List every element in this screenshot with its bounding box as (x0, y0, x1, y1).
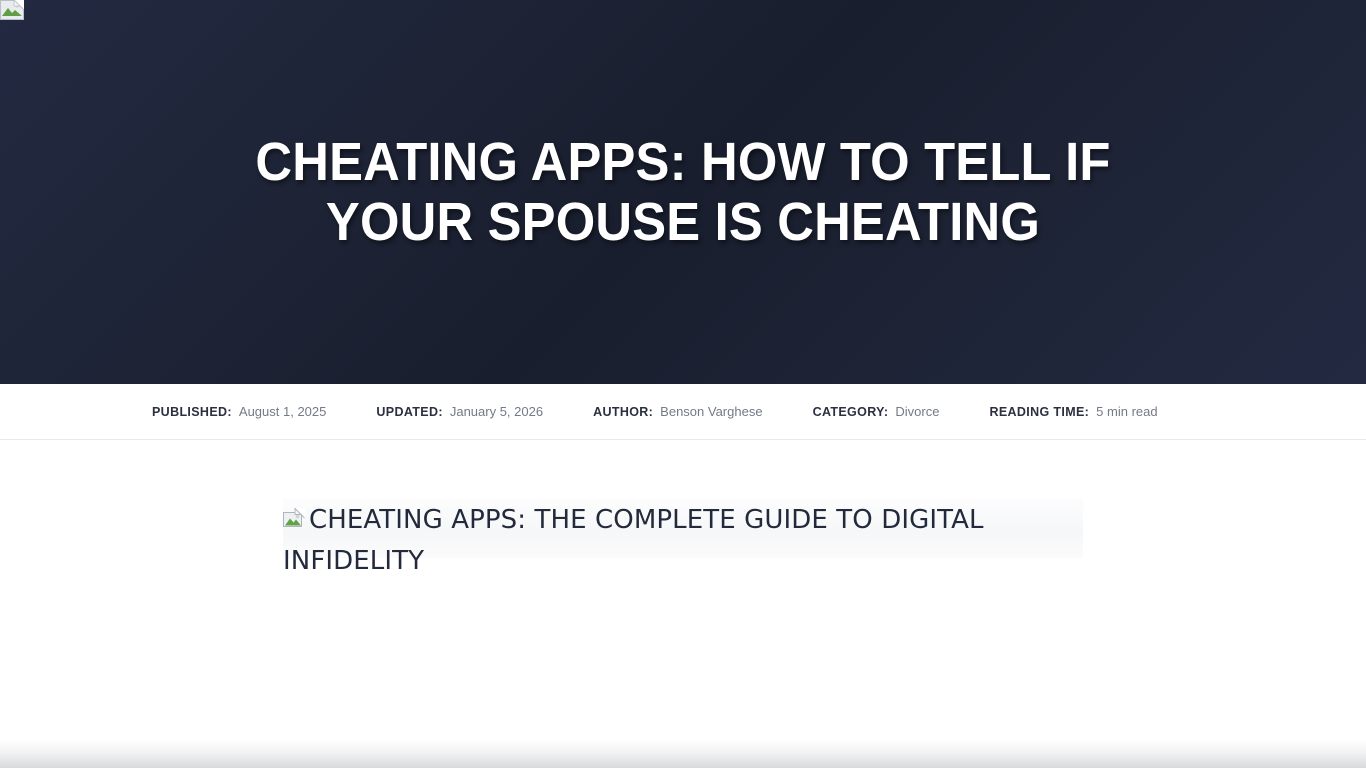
meta-item-reading-time: Reading Time: 5 min read (989, 404, 1157, 419)
meta-item-published: Published: August 1, 2025 (152, 404, 326, 419)
featured-image-figure: CHEATING APPS: THE COMPLETE GUIDE TO DIG… (283, 500, 1083, 581)
meta-inner: Published: August 1, 2025 Updated: Janua… (0, 404, 1366, 419)
article-page: Cheating Apps: How to Tell If Your Spous… (0, 0, 1366, 768)
meta-value-updated: January 5, 2026 (450, 404, 543, 419)
meta-value-author[interactable]: Benson Varghese (660, 404, 762, 419)
meta-label-author: Author: (593, 405, 653, 419)
meta-label-reading-time: Reading Time: (989, 405, 1089, 419)
article-content: CHEATING APPS: THE COMPLETE GUIDE TO DIG… (0, 440, 1366, 768)
meta-value-published: August 1, 2025 (239, 404, 326, 419)
meta-label-published: Published: (152, 405, 232, 419)
broken-image-icon (0, 0, 24, 20)
meta-value-category[interactable]: Divorce (895, 404, 939, 419)
featured-image-alt-text: CHEATING APPS: THE COMPLETE GUIDE TO DIG… (283, 500, 1083, 581)
meta-item-category: Category: Divorce (813, 404, 940, 419)
meta-label-updated: Updated: (376, 405, 442, 419)
featured-image-block: CHEATING APPS: THE COMPLETE GUIDE TO DIG… (283, 500, 1083, 581)
page-bottom-gradient (0, 740, 1366, 768)
article-hero: Cheating Apps: How to Tell If Your Spous… (0, 0, 1366, 384)
page-title: Cheating Apps: How to Tell If Your Spous… (179, 132, 1187, 253)
meta-item-author: Author: Benson Varghese (593, 404, 762, 419)
meta-value-reading-time: 5 min read (1096, 404, 1157, 419)
meta-label-category: Category: (813, 405, 889, 419)
meta-item-updated: Updated: January 5, 2026 (376, 404, 543, 419)
article-meta-bar: Published: August 1, 2025 Updated: Janua… (0, 384, 1366, 440)
hero-inner: Cheating Apps: How to Tell If Your Spous… (123, 132, 1243, 253)
